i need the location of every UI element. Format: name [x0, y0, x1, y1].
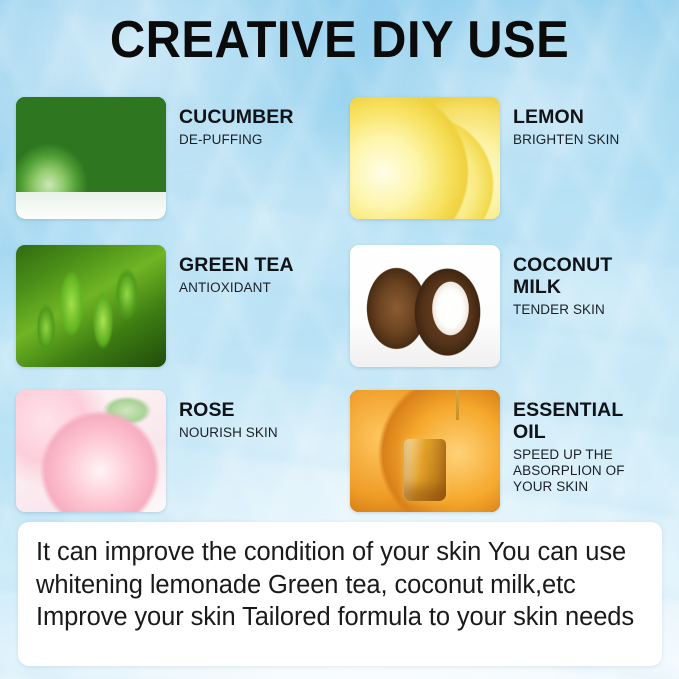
essential-oil-photo [350, 390, 500, 512]
ingredient-card-lemon: LEMON BRIGHTEN SKIN [350, 97, 679, 219]
ingredient-name: ROSE [179, 400, 278, 422]
ingredient-card-coconut-milk: COCONUT MILK TENDER SKIN [350, 245, 679, 367]
ingredient-description: SPEED UP THE ABSORPLION OF YOUR SKIN [513, 447, 652, 496]
summary-text: It can improve the condition of your ski… [36, 536, 644, 634]
lemon-photo [350, 97, 500, 219]
ingredient-card-green-tea: GREEN TEA ANTIOXIDANT [16, 245, 346, 367]
ingredient-description: TENDER SKIN [513, 302, 650, 318]
ingredient-description: BRIGHTEN SKIN [513, 132, 619, 148]
ingredient-description: DE-PUFFING [179, 132, 294, 148]
ingredient-card-cucumber: CUCUMBER DE-PUFFING [16, 97, 346, 219]
infographic-page: CREATIVE DIY USE CUCUMBER DE-PUFFING LEM… [0, 0, 679, 679]
ingredient-name: CUCUMBER [179, 107, 294, 129]
summary-panel: It can improve the condition of your ski… [18, 522, 662, 666]
rose-photo [16, 390, 166, 512]
ingredient-name: COCONUT MILK [513, 255, 650, 299]
ingredient-name: LEMON [513, 107, 619, 129]
ingredient-card-rose: ROSE NOURISH SKIN [16, 390, 346, 512]
ingredient-description: ANTIOXIDANT [179, 280, 294, 296]
cucumber-photo [16, 97, 166, 219]
page-title: CREATIVE DIY USE [20, 14, 658, 66]
ingredient-card-essential-oil: ESSENTIAL OIL SPEED UP THE ABSORPLION OF… [350, 390, 679, 512]
ingredient-name: ESSENTIAL OIL [513, 400, 652, 444]
green-tea-photo [16, 245, 166, 367]
ingredient-name: GREEN TEA [179, 255, 294, 277]
ingredient-description: NOURISH SKIN [179, 425, 278, 441]
coconut-photo [350, 245, 500, 367]
